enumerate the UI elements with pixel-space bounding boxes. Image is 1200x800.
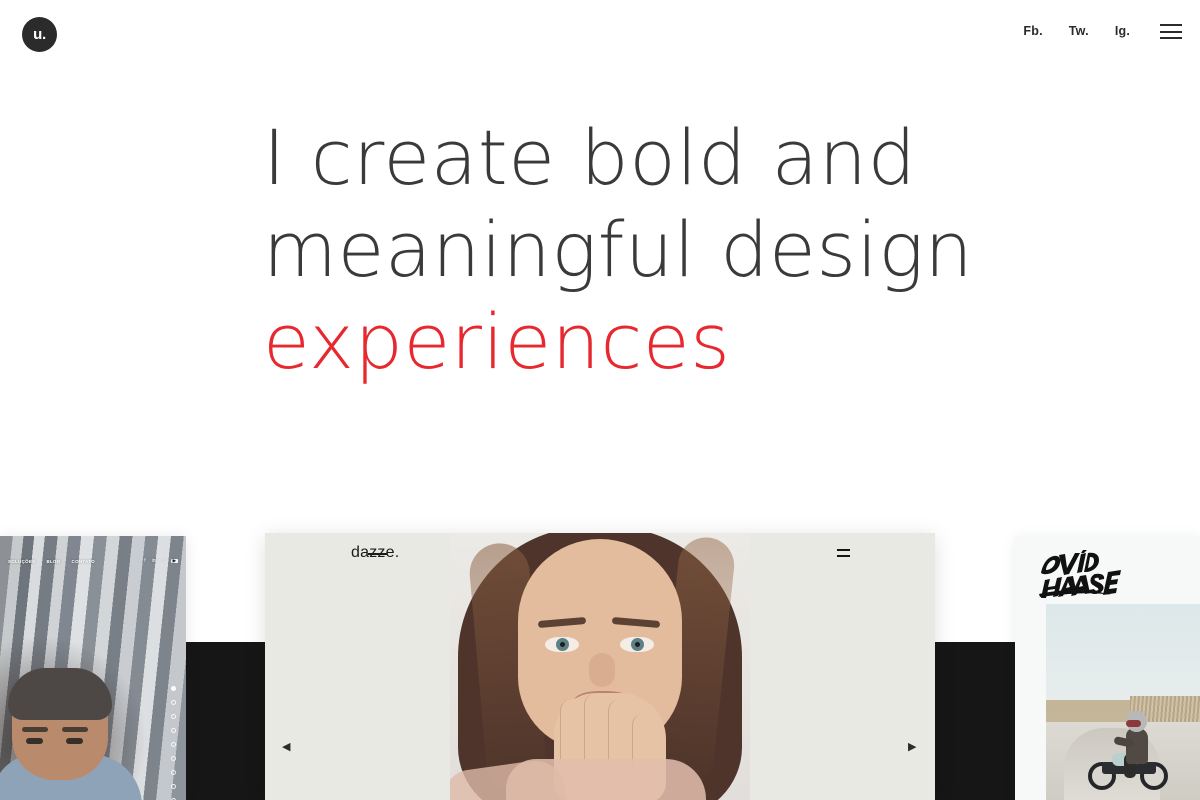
portrait-nose (589, 653, 615, 687)
portrait-finger (560, 699, 584, 759)
site-header: u. Fb. Tw. Ig. (0, 0, 1200, 70)
portrait-pupil-left (560, 642, 565, 647)
dazze-prev-arrow-icon[interactable]: ◀ (282, 742, 290, 753)
burger-line (837, 555, 850, 557)
slider-dot[interactable] (171, 770, 176, 775)
dazze-brand-part: e. (386, 544, 400, 561)
agency-social-row: f in ○ ▶ (144, 559, 178, 564)
primary-nav: Fb. Tw. Ig. (1023, 24, 1182, 39)
dazze-next-arrow-icon[interactable]: ▶ (908, 742, 916, 753)
slider-dot[interactable] (171, 756, 176, 761)
agency-card-nav: SOLUÇÕES BLOG CONTATO f in ○ ▶ (0, 550, 186, 572)
project-card-david-haase[interactable] (1015, 536, 1200, 800)
project-card-agency[interactable]: SOLUÇÕES BLOG CONTATO f in ○ ▶ (0, 536, 186, 800)
agency-nav-contato[interactable]: CONTATO (72, 559, 95, 564)
burger-line (1160, 31, 1182, 33)
dazze-brand-part: da (351, 544, 369, 561)
dazze-portrait-image (450, 533, 750, 800)
linkedin-icon[interactable]: in (152, 559, 156, 564)
nav-instagram[interactable]: Ig. (1115, 25, 1130, 38)
portrait-finger (584, 693, 608, 759)
backdrop-panel-right (935, 642, 1015, 800)
u-dot-logo[interactable]: u. (22, 17, 57, 52)
slider-dot[interactable] (171, 728, 176, 733)
agency-portrait (0, 656, 140, 800)
dazze-brand-zz: zz (369, 544, 385, 562)
hero-section: I create bold and meaningful design expe… (0, 112, 1200, 388)
instagram-icon[interactable]: ○ (162, 559, 165, 564)
agency-slider-dots[interactable] (171, 686, 176, 800)
slider-dot[interactable] (171, 714, 176, 719)
burger-line (1160, 37, 1182, 39)
hero-line-3-accent: experiences (263, 296, 1200, 388)
agency-nav-solucoes[interactable]: SOLUÇÕES (8, 559, 35, 564)
slider-dot[interactable] (171, 700, 176, 705)
david-haase-script-logo (1037, 550, 1123, 598)
burger-line (837, 549, 850, 551)
portrait-pupil-right (635, 642, 640, 647)
portrait-finger (608, 699, 632, 761)
burger-line (1160, 24, 1182, 26)
slider-dot[interactable] (171, 784, 176, 789)
slider-dot[interactable] (171, 742, 176, 747)
project-card-dazze[interactable]: dazze. ◀ ▶ (265, 533, 935, 800)
slider-dot[interactable] (171, 686, 176, 691)
david-haase-motorcycle-image (1046, 604, 1200, 800)
hamburger-menu-icon[interactable] (1160, 24, 1182, 39)
facebook-icon[interactable]: f (144, 559, 145, 564)
motorcycle-rider (1104, 710, 1178, 790)
portrait-brow-left (22, 727, 48, 732)
backdrop-panel-left (186, 642, 266, 800)
youtube-icon[interactable]: ▶ (171, 559, 178, 563)
portrait-brow-right (62, 727, 88, 732)
project-showcase: SOLUÇÕES BLOG CONTATO f in ○ ▶ (0, 520, 1200, 800)
portrait-finger (632, 713, 656, 765)
nav-twitter[interactable]: Tw. (1069, 25, 1089, 38)
dazze-hamburger-menu-icon[interactable] (837, 549, 850, 557)
hero-line-1: I create bold and (263, 112, 1200, 204)
nav-facebook[interactable]: Fb. (1023, 25, 1042, 38)
agency-nav-blog[interactable]: BLOG (46, 559, 60, 564)
portrait-hair (8, 668, 112, 720)
hero-line-2: meaningful design (263, 204, 1200, 296)
portrait-eye-right (66, 738, 83, 744)
page-root: u. Fb. Tw. Ig. I create bold and meaning… (0, 0, 1200, 800)
rider-visor (1126, 720, 1141, 727)
hero-heading: I create bold and meaningful design expe… (263, 112, 1200, 388)
dazze-brand-logo[interactable]: dazze. (351, 544, 399, 562)
portrait-eye-left (26, 738, 43, 744)
